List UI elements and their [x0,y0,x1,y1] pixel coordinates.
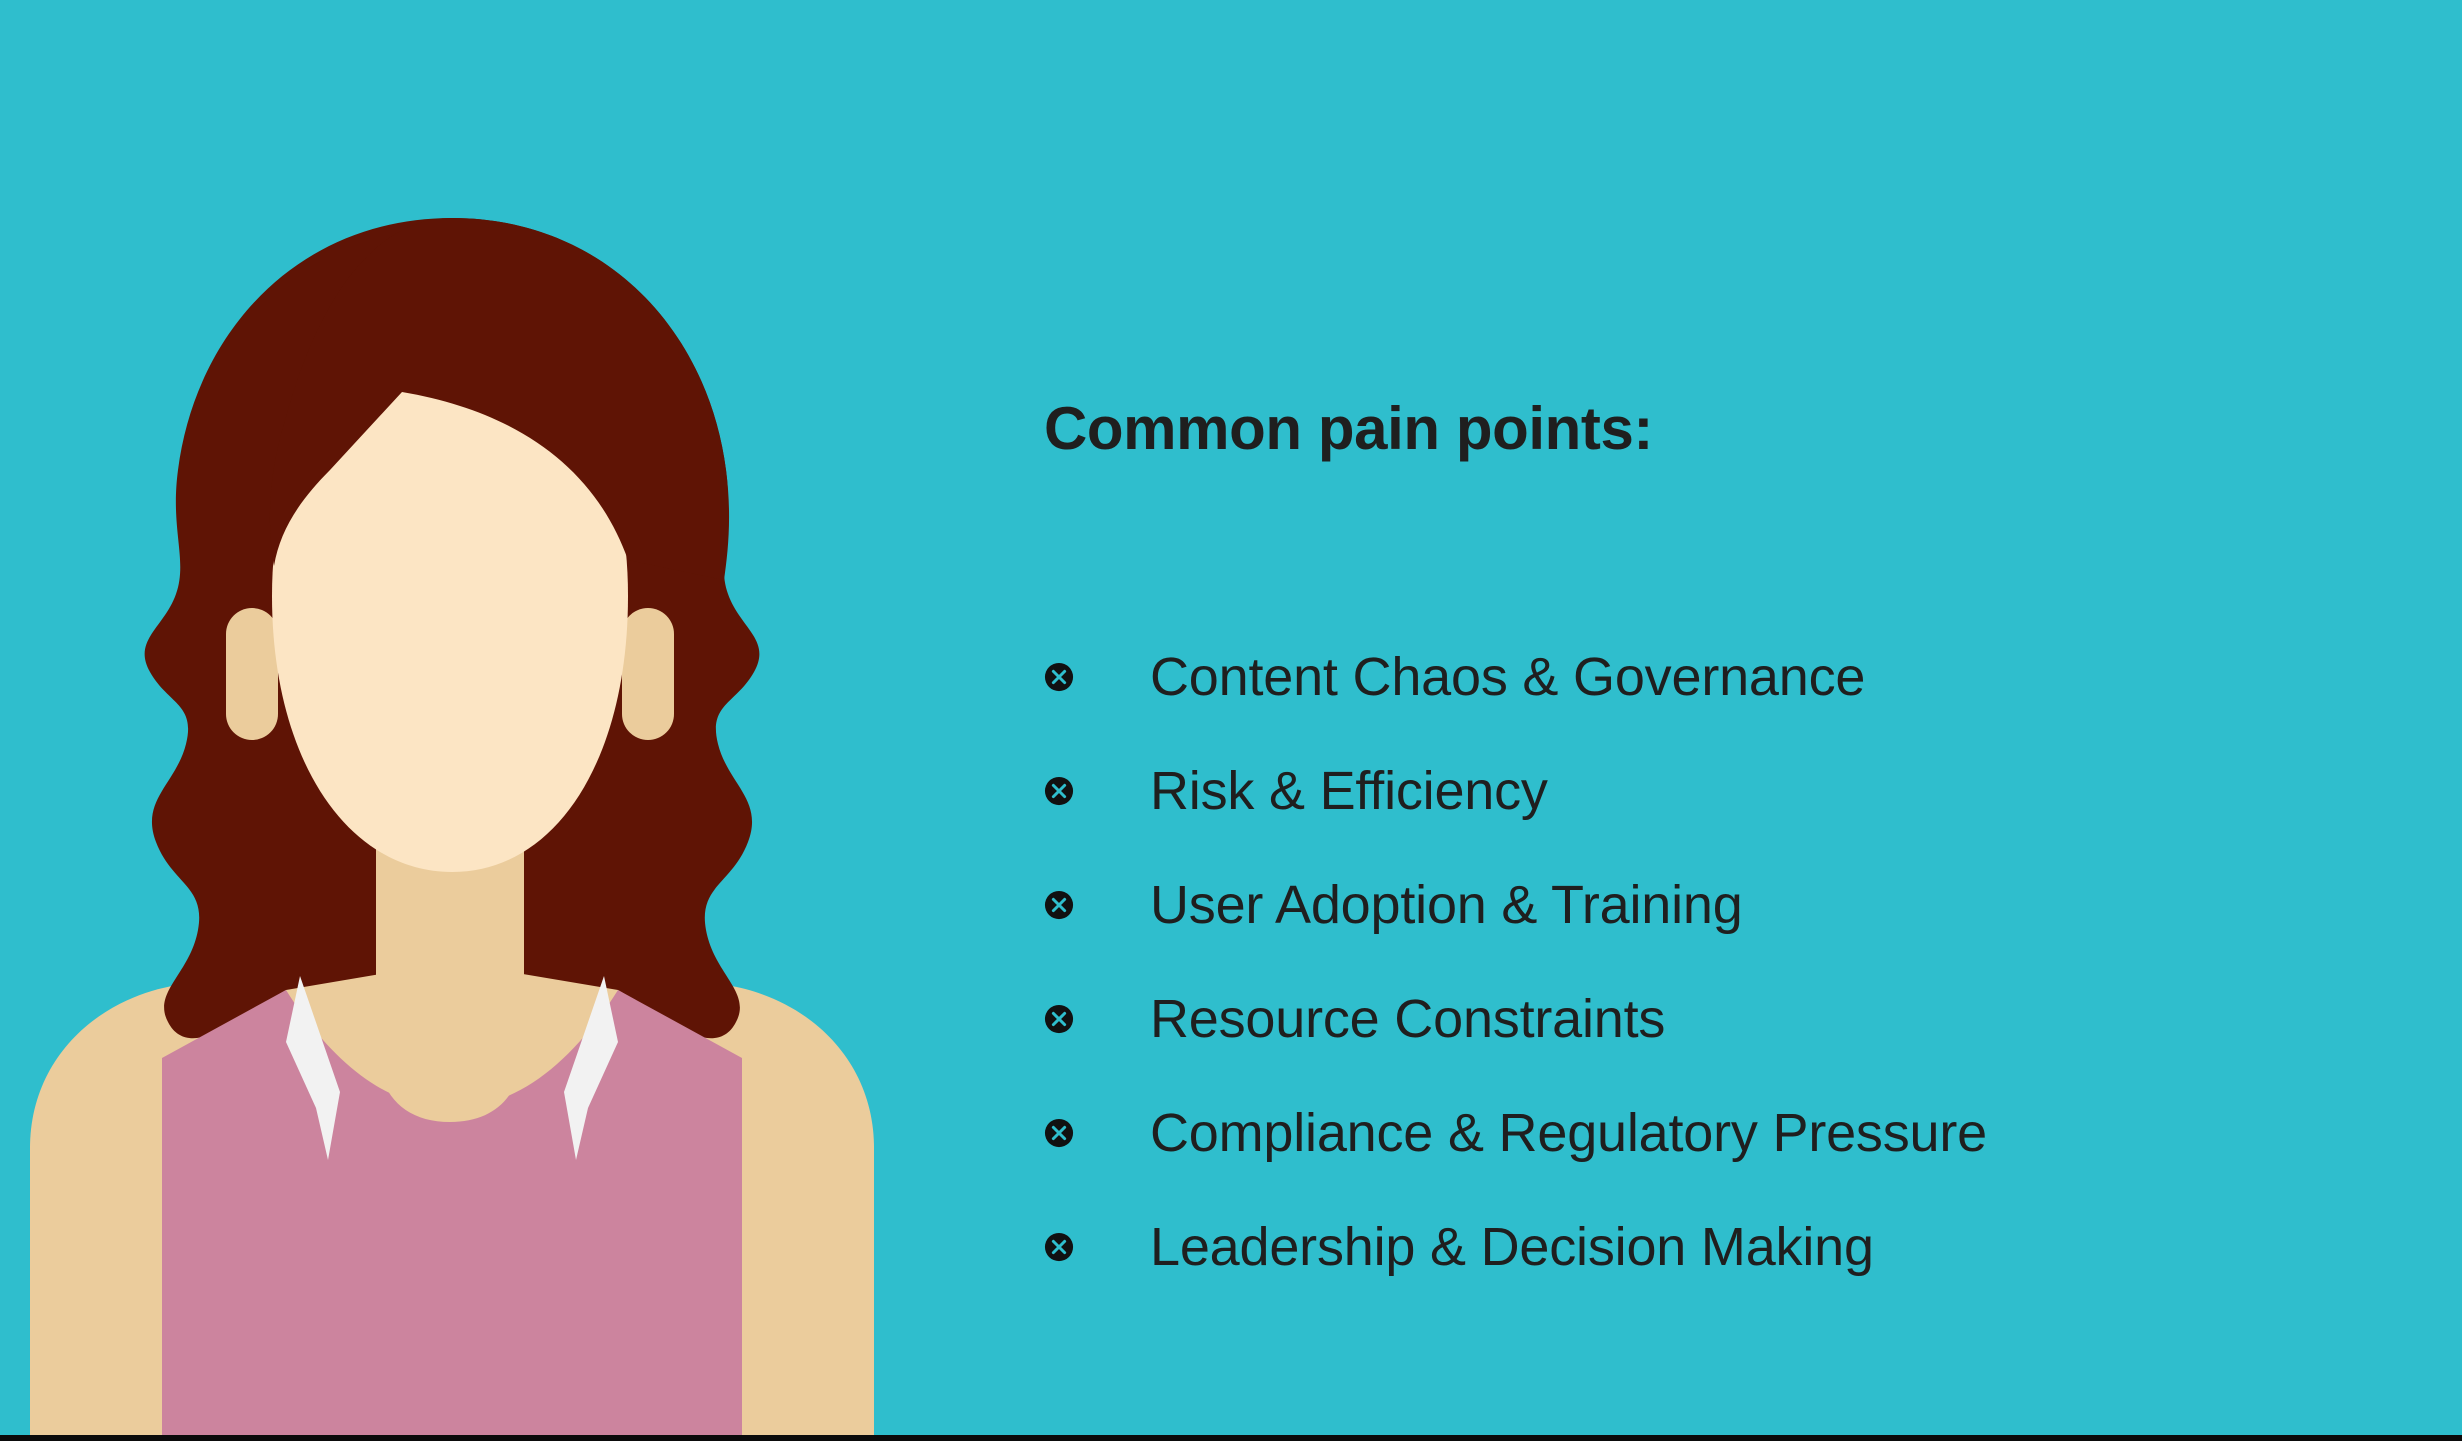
woman-avatar-illustration [0,0,900,1441]
ear-right [622,608,674,740]
list-item: Content Chaos & Governance [1044,620,2424,734]
list-item: User Adoption & Training [1044,848,2424,962]
pain-points-list: Content Chaos & Governance Risk & Effici… [1044,620,2424,1304]
neckline-skin [376,962,524,1122]
list-item-label: Risk & Efficiency [1150,764,1548,818]
circle-x-icon [1044,776,1074,806]
slide-canvas: Common pain points: Content Chaos & Gove… [0,0,2462,1441]
page-title: Common pain points: [1044,394,1653,463]
list-item: Resource Constraints [1044,962,2424,1076]
ear-left [226,608,278,740]
list-item-label: Content Chaos & Governance [1150,650,1865,704]
list-item: Compliance & Regulatory Pressure [1044,1076,2424,1190]
content-column: Common pain points: Content Chaos & Gove… [1044,0,2424,1441]
list-item-label: User Adoption & Training [1150,878,1743,932]
circle-x-icon [1044,662,1074,692]
list-item: Leadership & Decision Making [1044,1190,2424,1304]
circle-x-icon [1044,1004,1074,1034]
list-item-label: Compliance & Regulatory Pressure [1150,1106,1987,1160]
list-item-label: Resource Constraints [1150,992,1665,1046]
circle-x-icon [1044,890,1074,920]
list-item: Risk & Efficiency [1044,734,2424,848]
circle-x-icon [1044,1232,1074,1262]
circle-x-icon [1044,1118,1074,1148]
list-item-label: Leadership & Decision Making [1150,1220,1874,1274]
